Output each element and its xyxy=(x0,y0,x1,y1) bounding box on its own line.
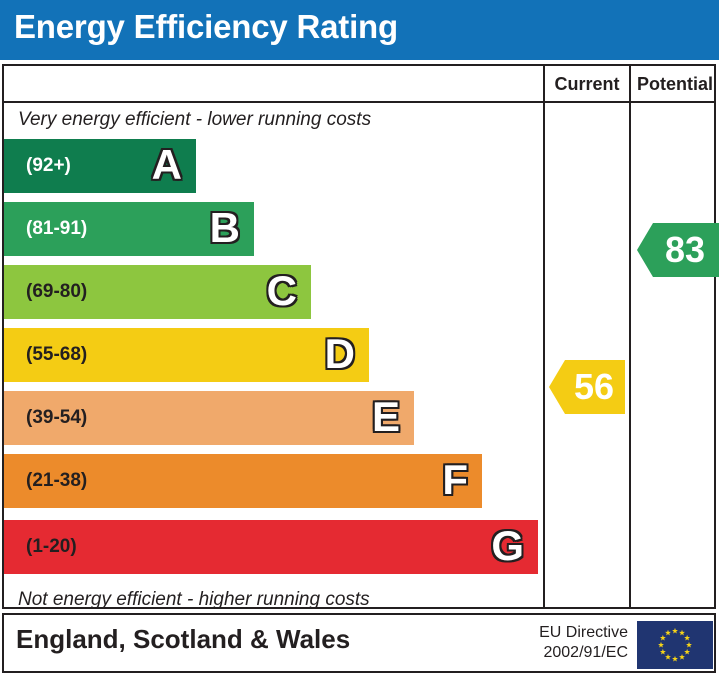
caption-not-efficient: Not energy efficient - higher running co… xyxy=(18,589,370,611)
current-column-divider xyxy=(543,64,545,609)
band-range-label: (69-80) xyxy=(26,281,87,303)
band-c: (69-80)C xyxy=(4,265,311,319)
chart-title-bar: Energy Efficiency Rating xyxy=(0,0,719,60)
band-range-label: (1-20) xyxy=(26,536,77,558)
eu-flag-icon xyxy=(637,621,713,669)
potential-rating-marker: 83 xyxy=(637,223,719,277)
current-rating-marker: 56 xyxy=(549,360,625,414)
band-a: (92+)A xyxy=(4,139,196,193)
band-letter-label: F xyxy=(442,459,468,501)
band-d: (55-68)D xyxy=(4,328,369,382)
band-letter-label: C xyxy=(267,270,297,312)
footer-directive-line1: EU Directive xyxy=(518,623,628,643)
footer-region-label: England, Scotland & Wales xyxy=(16,624,350,655)
energy-efficiency-rating-chart: Energy Efficiency Rating Current Potenti… xyxy=(0,0,719,675)
band-letter-label: A xyxy=(152,144,182,186)
column-header-potential: Potential xyxy=(631,74,719,95)
band-letter-label: D xyxy=(325,333,355,375)
band-e: (39-54)E xyxy=(4,391,414,445)
column-header-current: Current xyxy=(545,74,629,95)
page-title: Energy Efficiency Rating xyxy=(14,8,398,46)
band-f: (21-38)F xyxy=(4,454,482,508)
band-b: (81-91)B xyxy=(4,202,254,256)
band-g: (1-20)G xyxy=(4,520,538,574)
band-letter-label: E xyxy=(372,396,400,438)
caption-very-efficient: Very energy efficient - lower running co… xyxy=(18,109,371,131)
header-row-divider xyxy=(2,101,716,103)
band-range-label: (92+) xyxy=(26,155,71,177)
band-range-label: (39-54) xyxy=(26,407,87,429)
band-range-label: (21-38) xyxy=(26,470,87,492)
footer-directive: EU Directive 2002/91/EC xyxy=(518,623,628,663)
band-range-label: (81-91) xyxy=(26,218,87,240)
band-letter-label: B xyxy=(210,207,240,249)
potential-column-divider xyxy=(629,64,631,609)
band-range-label: (55-68) xyxy=(26,344,87,366)
band-letter-label: G xyxy=(491,525,524,567)
footer-directive-line2: 2002/91/EC xyxy=(518,643,628,663)
potential-rating-value: 83 xyxy=(651,232,705,268)
current-rating-value: 56 xyxy=(560,369,614,405)
